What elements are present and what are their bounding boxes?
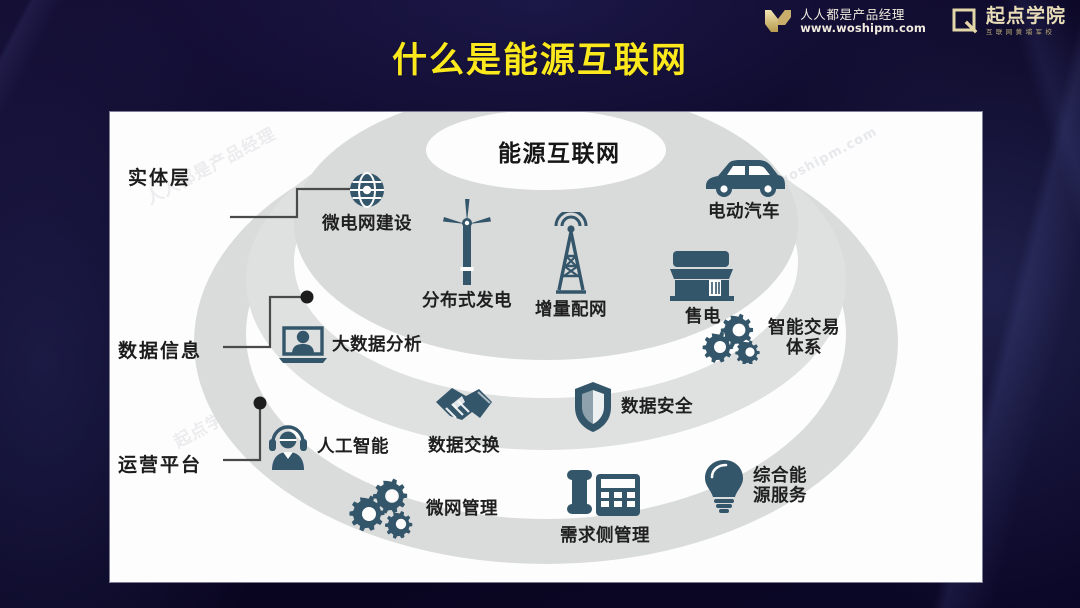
electric-car-icon [700, 154, 788, 200]
diagram-card: 人人都是产品经理 www.woshipm.com 起点学院 人人都是产品经理 起… [110, 112, 982, 582]
node-label: 电动汽车 [708, 202, 780, 222]
brand-woshipm[interactable]: 人人都是产品经理 www.woshipm.com [763, 6, 926, 36]
node-integrated-energy-services[interactable]: 综合能 源服务 [700, 457, 807, 515]
node-incremental-distribution[interactable]: 增量配网 [535, 212, 607, 320]
node-microgrid-management[interactable]: 微网管理 [348, 478, 498, 540]
node-label-line1: 综合能 [753, 466, 807, 486]
node-distributed-generation[interactable]: 分布式发电 [422, 197, 512, 311]
woshipm-url: www.woshipm.com [800, 22, 926, 34]
funnel-rings [110, 112, 982, 582]
transmission-tower-icon [543, 212, 599, 298]
electricity-sales-icon [667, 247, 739, 305]
node-label: 分布式发电 [422, 291, 512, 311]
node-big-data-analysis[interactable]: 大数据分析 [278, 324, 422, 366]
node-label: 微电网建设 [322, 214, 412, 234]
wind-turbine-icon [438, 197, 496, 289]
gears-icon [702, 312, 764, 364]
lightbulb-icon [700, 457, 748, 515]
node-demand-side-management[interactable]: 需求侧管理 [560, 462, 650, 546]
shield-icon [572, 380, 614, 434]
node-label: 需求侧管理 [560, 526, 650, 546]
node-data-security[interactable]: 数据安全 [572, 380, 693, 434]
layer-label-data: 数据信息 [118, 336, 202, 363]
node-artificial-intelligence[interactable]: 人工智能 [265, 422, 389, 472]
node-label: 微网管理 [426, 499, 498, 519]
qidian-tagline: 互联网黄埔军校 [986, 29, 1066, 36]
node-microgrid-construction[interactable]: 微电网建设 [322, 168, 412, 234]
qidian-q-logo-icon [952, 8, 979, 35]
node-label: 人工智能 [317, 437, 389, 457]
node-electric-vehicle[interactable]: 电动汽车 [700, 154, 788, 222]
slide-background: 人人都是产品经理 www.woshipm.com 起点学院 互联网黄埔军校 什么… [0, 0, 1080, 608]
node-data-exchange[interactable]: 数据交换 [428, 380, 500, 456]
layer-label-physical: 实体层 [128, 163, 191, 190]
brand-qidian[interactable]: 起点学院 互联网黄埔军校 [952, 7, 1066, 36]
woshipm-m-logo-icon [763, 6, 793, 36]
page-title: 什么是能源互联网 [0, 32, 1080, 83]
node-label: 数据交换 [428, 436, 500, 456]
woshipm-name: 人人都是产品经理 [800, 8, 926, 22]
diagram-center-title: 能源互联网 [498, 134, 621, 168]
node-smart-trading-system[interactable]: 智能交易 体系 [702, 312, 840, 364]
node-label-line2: 体系 [768, 338, 840, 358]
node-label: 增量配网 [535, 300, 607, 320]
node-label: 数据安全 [621, 397, 693, 417]
header-logos: 人人都是产品经理 www.woshipm.com 起点学院 互联网黄埔军校 [763, 6, 1066, 36]
desk-phone-icon [566, 462, 644, 524]
qidian-name: 起点学院 [986, 7, 1066, 26]
node-label: 大数据分析 [332, 335, 422, 355]
big-data-laptop-icon [278, 324, 328, 366]
node-label-line1: 智能交易 [768, 318, 840, 338]
layer-label-platform: 运营平台 [118, 450, 202, 477]
headset-agent-icon [265, 422, 311, 472]
handshake-icon [432, 380, 496, 434]
gears-icon [348, 478, 422, 540]
globe-icon [345, 168, 389, 212]
node-label-line2: 源服务 [753, 486, 807, 506]
